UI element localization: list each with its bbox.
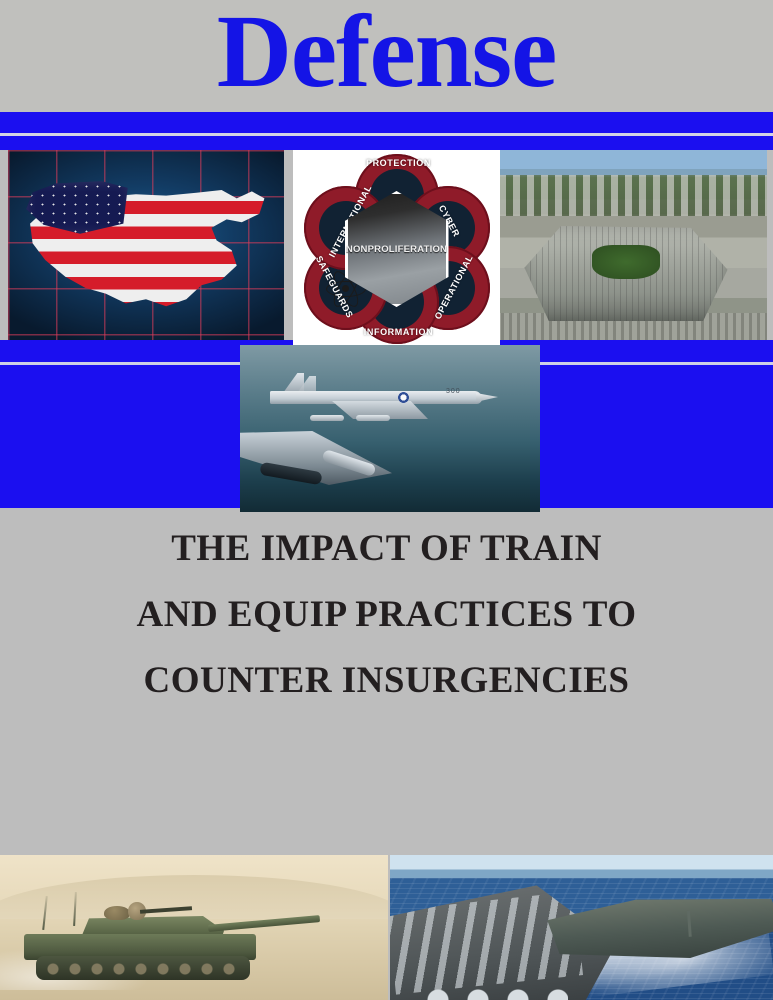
aircraft-carrier-image [390,855,773,1000]
fighter-jets-image: 300 [240,345,540,512]
wheel-label-information: INFORMATION [357,327,441,337]
page-title: Defense [0,0,773,112]
book-cover: Defense [0,0,773,1000]
title-line-2: AND EQUIP PRACTICES TO [60,582,713,648]
tank-machine-gun [140,906,192,914]
title-line-1: THE IMPACT OF TRAIN [60,516,713,582]
jet-tail-number: 300 [446,388,461,395]
bottom-photo-row [0,855,773,1000]
city-skyline [485,175,767,217]
jet-external-store-inboard [310,415,344,421]
wheel-center-label: NONPROLIFERATION [346,244,447,255]
tank-main-gun-barrel [208,915,320,932]
tank-antenna-left [42,896,48,930]
masthead-band: Defense [0,0,773,112]
tank-antenna-right [73,892,77,926]
pentagon-courtyard [592,245,660,279]
accent-rule-upper [0,112,773,133]
mission-wheel: PROTECTION CYBER OPERATIONAL INFORMATION… [302,154,492,344]
title-line-3: COUNTER INSURGENCIES [60,648,713,714]
flag-map-image [8,150,284,340]
accent-rule-lower [0,136,773,150]
nonproliferation-logo-card: PROTECTION CYBER OPERATIONAL INFORMATION… [293,150,500,348]
abrams-tank [12,898,312,984]
tank-track [36,956,250,980]
supply-ship-mast [687,911,692,937]
top-photo-row: PROTECTION CYBER OPERATIONAL INFORMATION… [0,150,773,340]
cover-title-block: THE IMPACT OF TRAIN AND EQUIP PRACTICES … [60,516,713,714]
carrier-radar-domes [418,966,568,1000]
tank-commander-hatch [104,906,130,920]
jet-nose-cone [476,393,498,402]
national-insignia-roundel [398,392,409,403]
pentagon-image [485,150,767,340]
tank-image [0,855,388,1000]
wheel-label-protection: PROTECTION [357,158,441,168]
jet-external-store-outboard [356,415,390,421]
lead-fighter-jet: 300 [270,379,482,415]
trailing-fighter-jet [240,431,416,497]
